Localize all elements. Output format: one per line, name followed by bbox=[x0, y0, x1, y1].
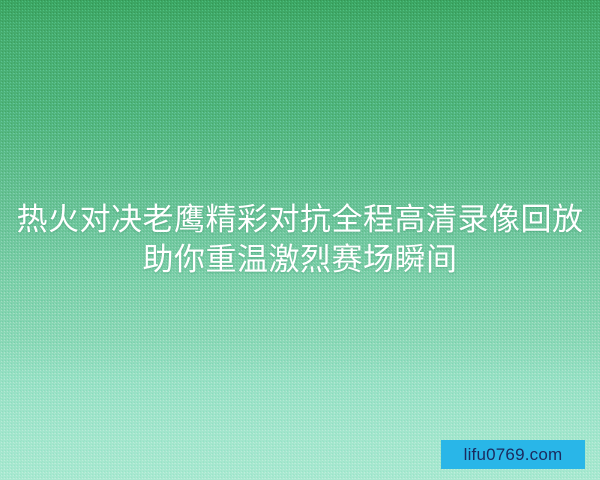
headline-line-1: 热火对决老鹰精彩对抗全程高清录像回放 bbox=[0, 200, 600, 240]
headline-text: 热火对决老鹰精彩对抗全程高清录像回放 助你重温激烈赛场瞬间 bbox=[0, 200, 600, 280]
promo-banner: 热火对决老鹰精彩对抗全程高清录像回放 助你重温激烈赛场瞬间 lifu0769.c… bbox=[0, 0, 600, 480]
watermark-badge: lifu0769.com bbox=[441, 440, 585, 469]
headline-line-2: 助你重温激烈赛场瞬间 bbox=[0, 240, 600, 280]
